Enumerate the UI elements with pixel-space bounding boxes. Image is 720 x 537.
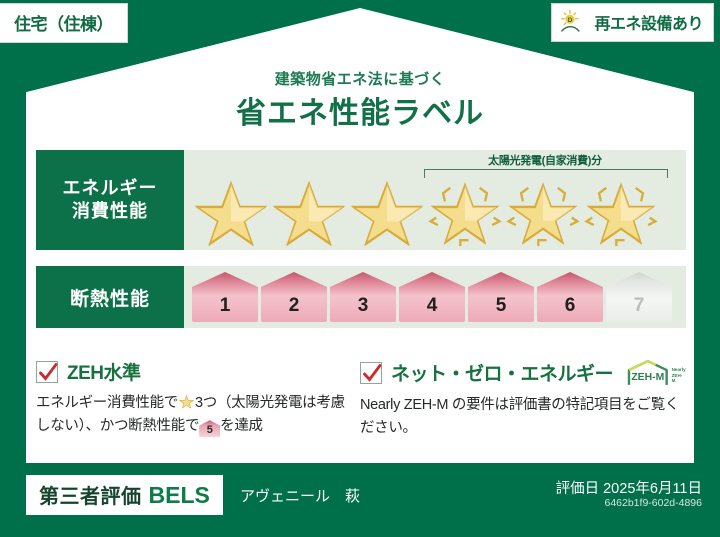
- zeh-standard-block: ZEH水準 エネルギー消費性能で3つ（太陽光発電は考慮しない）、かつ断熱性能で5…: [36, 358, 352, 440]
- insulation-performance-label: 断熱性能: [36, 266, 184, 328]
- grade-badge-5: 5: [468, 272, 534, 322]
- energy-performance-row: エネルギー 消費性能 太陽光発電(自家消費)分: [36, 150, 686, 250]
- star-icon-solar: [424, 176, 502, 248]
- energy-label-line2: 消費性能: [72, 200, 148, 223]
- bels-logo-text: BELS: [149, 482, 210, 509]
- energy-performance-label: エネルギー 消費性能: [36, 150, 184, 250]
- net-zero-energy-block: ネット・ゼロ・エネルギー ZEH-M Nearly ZEH-M Nearly Z…: [360, 358, 686, 440]
- grade-badge-1: 1: [192, 272, 258, 322]
- certification-checks: ZEH水準 エネルギー消費性能で3つ（太陽光発電は考慮しない）、かつ断熱性能で5…: [36, 358, 686, 440]
- solar-generation-note: 太陽光発電(自家消費)分: [420, 152, 670, 168]
- zeh-body-part3: を達成: [220, 418, 263, 434]
- grade-value: 1: [220, 295, 231, 317]
- building-type-badge: 住宅（住棟）: [0, 3, 128, 43]
- insulation-grade-scale: 1 2 3 4 5 6 7: [192, 272, 672, 322]
- grade-value: 3: [358, 295, 369, 317]
- insulation-performance-body: 1 2 3 4 5 6 7: [184, 266, 686, 328]
- grade-value: 7: [634, 295, 645, 317]
- grade-badge-6: 6: [537, 272, 603, 322]
- net-zero-energy-body: Nearly ZEH-M の要件は評価書の特記項目をご覧ください。: [360, 394, 686, 440]
- grade-badge-4: 4: [399, 272, 465, 322]
- insulation-performance-row: 断熱性能 1 2 3 4 5 6 7: [36, 266, 686, 328]
- bels-badge: 第三者評価 BELS: [26, 475, 223, 515]
- building-type-label: 住宅（住棟）: [14, 15, 113, 34]
- evaluation-date: 評価日 2025年6月11日: [556, 477, 702, 498]
- insulation-label-text: 断熱性能: [70, 284, 150, 311]
- zeh-standard-title: ZEH水準: [67, 358, 141, 385]
- zeh-m-sub-line2: ZEH-M: [672, 373, 683, 384]
- label-footer: 第三者評価 BELS アヴェニール 萩 評価日 2025年6月11日 6462b…: [0, 463, 720, 537]
- star-icon: [346, 176, 424, 248]
- inline-grade-badge: 5: [199, 420, 220, 437]
- zeh-standard-checkbox[interactable]: [36, 361, 58, 383]
- energy-label-line1: エネルギー: [63, 177, 158, 200]
- star-rating: [190, 176, 682, 248]
- grade-value: 6: [565, 295, 576, 317]
- net-zero-energy-checkbox[interactable]: [360, 362, 382, 384]
- star-icon: [178, 393, 195, 410]
- star-icon-solar: [502, 176, 580, 248]
- zeh-m-logo: ZEH-M Nearly ZEH-M: [626, 358, 686, 387]
- renewable-energy-label: 再エネ設備あり: [594, 10, 703, 34]
- star-icon: [268, 176, 346, 248]
- net-zero-energy-title: ネット・ゼロ・エネルギー: [391, 359, 613, 386]
- grade-badge-2: 2: [261, 272, 327, 322]
- grade-value: 4: [427, 295, 438, 317]
- bels-japanese-label: 第三者評価: [39, 480, 142, 509]
- star-icon-solar: [580, 176, 658, 248]
- project-name: アヴェニール 萩: [240, 485, 360, 506]
- zeh-m-sub-line1: Nearly: [672, 367, 686, 372]
- renewable-energy-badge: D 再エネ設備あり: [551, 3, 714, 42]
- grade-value: 5: [496, 295, 507, 317]
- zeh-standard-body: エネルギー消費性能で3つ（太陽光発電は考慮しない）、かつ断熱性能で5を達成: [36, 392, 352, 438]
- star-icon: [190, 176, 268, 248]
- evaluation-id: 6462b1f9-602d-4896: [604, 497, 702, 509]
- solar-sun-icon: D: [560, 9, 588, 35]
- grade-badge-3: 3: [330, 272, 396, 322]
- grade-value: 2: [289, 295, 300, 317]
- bels-energy-label: 住宅（住棟） D 再エネ設備あり 建築物省エネ法に基づく 省エネ性能ラベル: [0, 0, 720, 537]
- grade-badge-7: 7: [606, 272, 672, 322]
- zeh-m-logo-subtext: Nearly ZEH-M: [672, 367, 686, 387]
- energy-performance-body: 太陽光発電(自家消費)分: [184, 150, 686, 250]
- svg-text:ZEH-M: ZEH-M: [631, 372, 664, 383]
- page-title: 省エネ性能ラベル: [0, 88, 720, 132]
- zeh-body-part1: エネルギー消費性能で: [36, 395, 178, 411]
- zeh-standard-header: ZEH水準: [36, 358, 352, 385]
- svg-text:D: D: [568, 17, 573, 24]
- net-zero-energy-header: ネット・ゼロ・エネルギー ZEH-M Nearly ZEH-M: [360, 358, 686, 387]
- label-subtitle: 建築物省エネ法に基づく: [0, 68, 720, 89]
